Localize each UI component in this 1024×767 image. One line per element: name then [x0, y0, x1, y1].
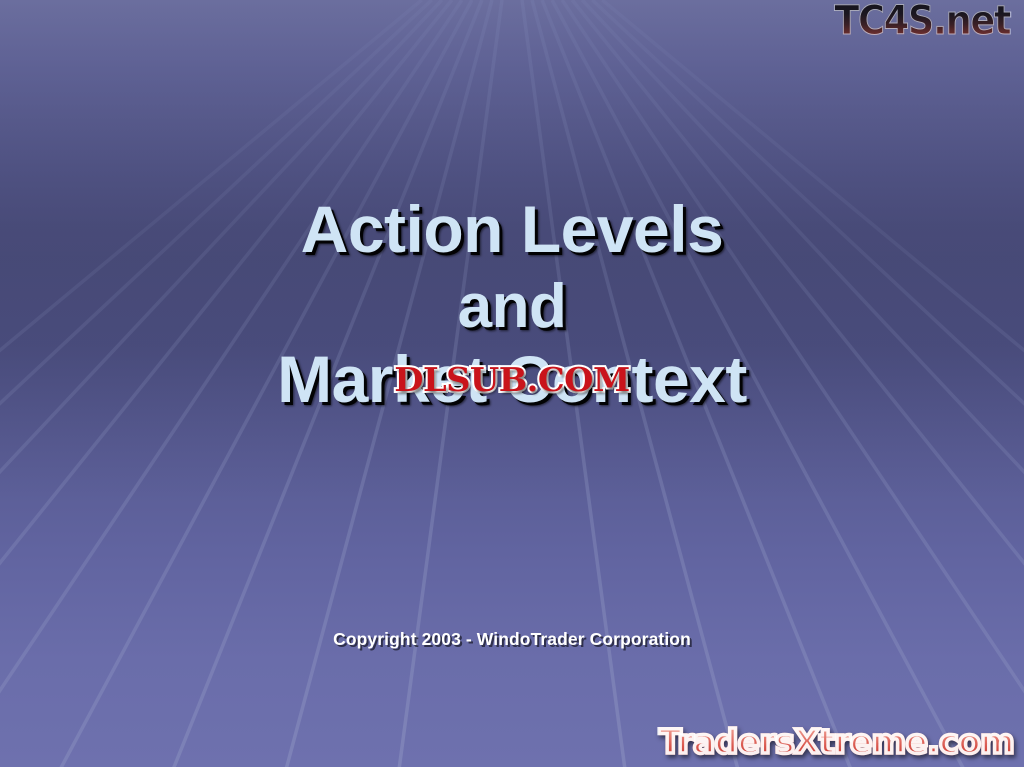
watermark-tradersxtreme-com: TradersXtreme.com [659, 722, 1014, 761]
copyright-notice: Copyright 2003 - WindoTrader Corporation [0, 629, 1024, 650]
watermark-tc4s-net: TC4S.net [834, 0, 1010, 44]
title-line-and: and [0, 276, 1024, 338]
presentation-slide: Action Levels and Market Context DLSUB.C… [0, 0, 1024, 767]
watermark-dlsub-com: DLSUB.COM [394, 360, 629, 399]
title-line-action-levels: Action Levels [0, 196, 1024, 262]
